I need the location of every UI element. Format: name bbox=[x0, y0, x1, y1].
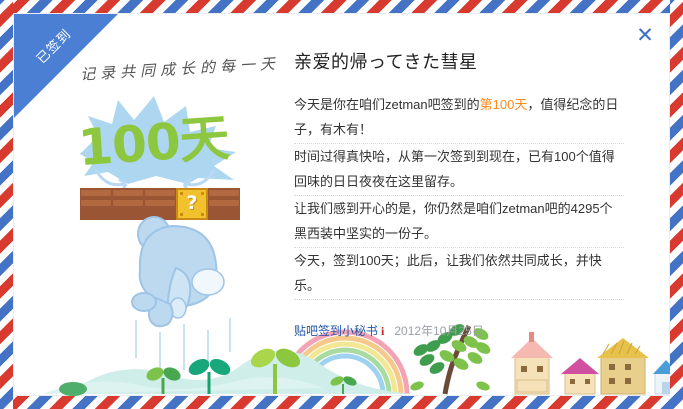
airmail-border-bottom bbox=[0, 396, 683, 409]
house-icon-yellow bbox=[597, 338, 649, 394]
page-title: 亲爱的帰ってきた彗星 bbox=[294, 48, 624, 74]
paragraph-1-before: 今天是你在咱们zetman吧签到的 bbox=[294, 97, 480, 112]
message-meta: 贴吧签到小秘书i2012年10月25日 bbox=[294, 322, 624, 339]
house-icon-blue bbox=[653, 360, 670, 394]
message-date: 2012年10月25日 bbox=[394, 324, 483, 338]
stone-shape bbox=[59, 382, 87, 396]
paragraph-2: 时间过得真快哈，从第一次签到到现在，已有100个值得回味的日日夜夜在这里留存。 bbox=[294, 144, 624, 196]
close-icon[interactable]: ✕ bbox=[634, 25, 656, 47]
airmail-border-top bbox=[0, 0, 683, 13]
paragraph-1: 今天是你在咱们zetman吧签到的第100天，值得纪念的日子，有木有！ bbox=[294, 92, 624, 144]
handwriting-caption: 记录共同成长的每一天 bbox=[80, 52, 281, 84]
info-icon[interactable]: i bbox=[381, 324, 384, 339]
airmail-border-right bbox=[670, 0, 683, 409]
message-content: 亲爱的帰ってきた彗星 今天是你在咱们zetman吧签到的第100天，值得纪念的日… bbox=[294, 48, 624, 339]
question-mark-icon: ? bbox=[178, 192, 206, 214]
paragraph-4: 今天，签到100天；此后，让我们依然共同成长，并快乐。 bbox=[294, 248, 624, 300]
highlight-days: 第100天 bbox=[480, 97, 528, 112]
brick-block bbox=[80, 188, 112, 220]
house-icon-magenta bbox=[561, 358, 599, 394]
signin-card: 已签到 ✕ 记录共同成长的每一天 100天 ? bbox=[0, 0, 683, 409]
airmail-border-left bbox=[0, 0, 13, 409]
house-icon-pink bbox=[511, 332, 553, 394]
paragraph-3: 让我们感到开心的是，你仍然是咱们zetman吧的4295个黑西装中坚实的一份子。 bbox=[294, 196, 624, 248]
author-link[interactable]: 贴吧签到小秘书 bbox=[294, 324, 378, 338]
